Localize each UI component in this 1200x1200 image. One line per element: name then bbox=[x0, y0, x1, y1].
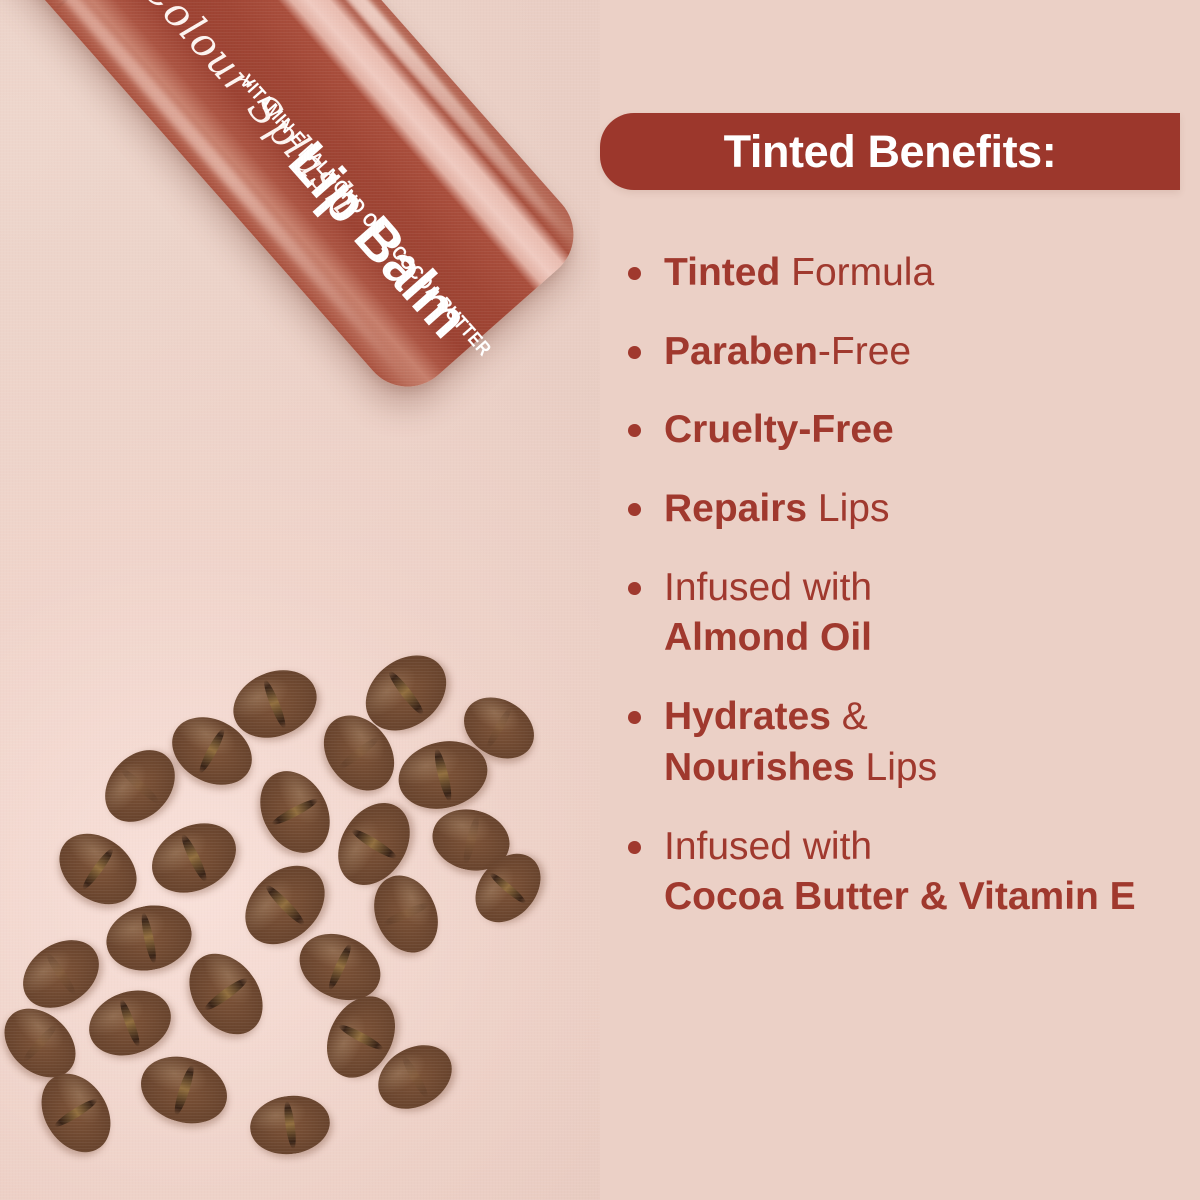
benefit-bold: Almond Oil bbox=[664, 616, 872, 659]
list-item: Infused with Almond Oil bbox=[628, 563, 1188, 664]
benefit-label-cruelty-free: Cruelty-Free bbox=[664, 405, 894, 456]
bullet-dot-icon bbox=[628, 267, 641, 280]
benefit-label-almond-oil: Infused with Almond Oil bbox=[664, 563, 872, 664]
benefit-label-paraben-free: Paraben-Free bbox=[664, 327, 911, 378]
benefit-bold-2: Nourishes bbox=[664, 746, 855, 789]
list-item: Paraben-Free bbox=[628, 327, 1188, 378]
benefit-label-tinted-formula: Tinted Formula bbox=[664, 248, 934, 299]
benefit-regular: -Free bbox=[818, 330, 911, 373]
benefit-label-cocoa-butter-vitamin-e: Infused with Cocoa Butter & Vitamin E bbox=[664, 822, 1136, 923]
page-title: Tinted Benefits: bbox=[724, 126, 1057, 178]
list-item: Infused with Cocoa Butter & Vitamin E bbox=[628, 822, 1188, 923]
benefit-regular: Formula bbox=[780, 251, 934, 294]
benefit-regular: & bbox=[831, 695, 868, 738]
benefit-regular: Infused with bbox=[664, 566, 872, 609]
benefits-header-banner: Tinted Benefits: bbox=[600, 113, 1180, 190]
benefit-regular-2: Lips bbox=[855, 746, 937, 789]
benefit-label-hydrates-nourishes: Hydrates & Nourishes Lips bbox=[664, 692, 937, 793]
bullet-dot-icon bbox=[628, 841, 641, 854]
benefit-bold: Hydrates bbox=[664, 695, 831, 738]
product-photo-pane: Colour Splash Lip Balm VITAMIN E | ALMON… bbox=[0, 0, 600, 1200]
list-item: Hydrates & Nourishes Lips bbox=[628, 692, 1188, 793]
benefit-bold: Paraben bbox=[664, 330, 818, 373]
benefit-regular: Lips bbox=[807, 487, 889, 530]
benefits-list: Tinted Formula Paraben-Free Cruelty-Free… bbox=[628, 248, 1188, 951]
bullet-dot-icon bbox=[628, 582, 641, 595]
benefit-regular: Infused with bbox=[664, 825, 872, 868]
benefit-label-repairs-lips: Repairs Lips bbox=[664, 484, 889, 535]
product-marketing-graphic: Colour Splash Lip Balm VITAMIN E | ALMON… bbox=[0, 0, 1200, 1200]
bullet-dot-icon bbox=[628, 503, 641, 516]
list-item: Cruelty-Free bbox=[628, 405, 1188, 456]
benefit-bold: Cocoa Butter & Vitamin E bbox=[664, 875, 1136, 918]
list-item: Tinted Formula bbox=[628, 248, 1188, 299]
bullet-dot-icon bbox=[628, 711, 641, 724]
bullet-dot-icon bbox=[628, 424, 641, 437]
benefit-bold: Repairs bbox=[664, 487, 807, 530]
benefit-bold: Tinted bbox=[664, 251, 780, 294]
bullet-dot-icon bbox=[628, 346, 641, 359]
benefit-bold: Cruelty-Free bbox=[664, 408, 894, 451]
list-item: Repairs Lips bbox=[628, 484, 1188, 535]
